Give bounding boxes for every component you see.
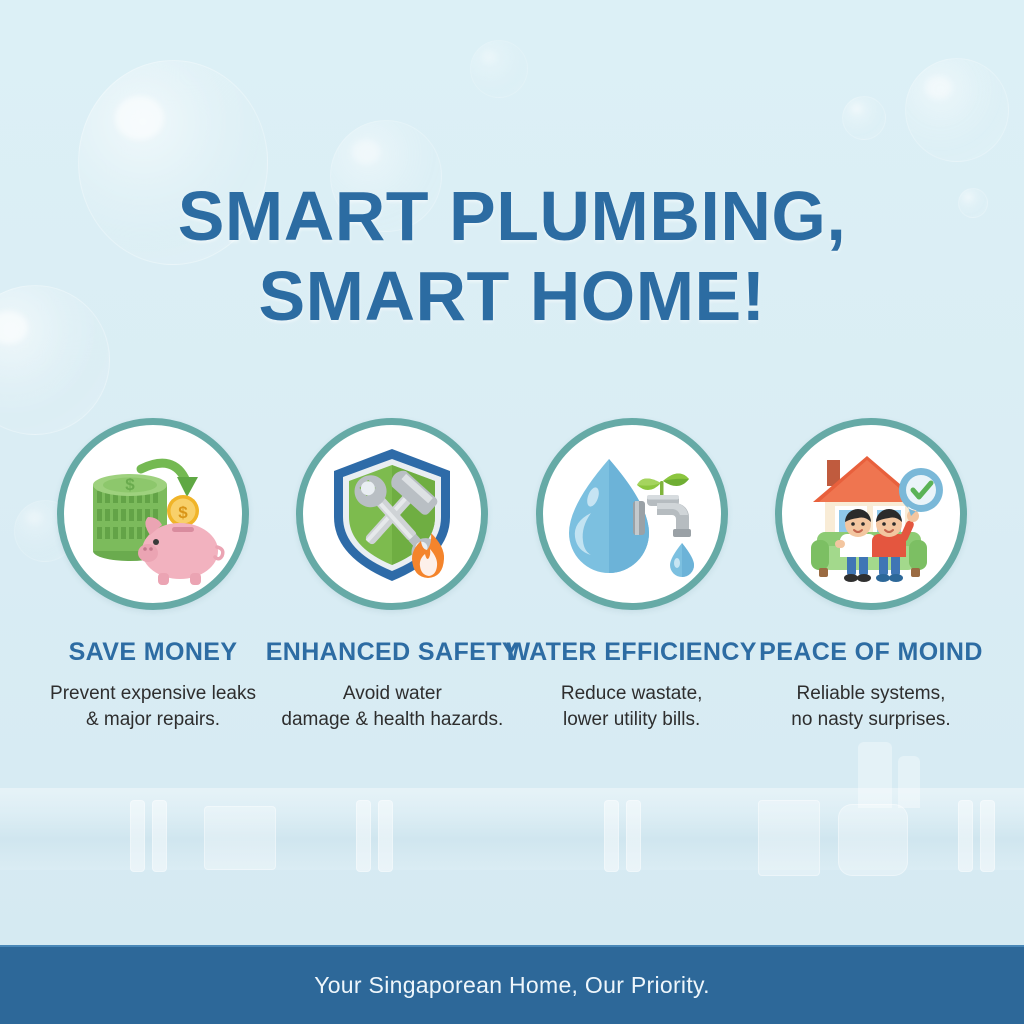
water-drop-faucet-leaf-icon <box>536 418 728 610</box>
feature-title: PEACE OF MOIND <box>759 638 983 667</box>
pipe-ring-icon <box>980 800 995 872</box>
feature-description: Prevent expensive leaks & major repairs. <box>50 681 256 733</box>
feature-item-water-efficiency: WATER EFFICIENCY Reduce wastate, lower u… <box>513 418 751 733</box>
feature-desc-line-1: Reduce wastate, <box>561 683 703 704</box>
pipe-ring-icon <box>152 800 167 872</box>
footer-banner: Your Singaporean Home, Our Priority. <box>0 945 1024 1024</box>
svg-text:$: $ <box>125 475 135 494</box>
feature-desc-line-2: no nasty surprises. <box>791 709 950 730</box>
family-home-check-icon <box>775 418 967 610</box>
page-title: SMART PLUMBING, SMART HOME! <box>0 176 1024 336</box>
feature-description: Reliable systems, no nasty surprises. <box>791 681 950 733</box>
pipe-ring-icon <box>130 800 145 872</box>
pipe-ring-icon <box>356 800 371 872</box>
pipe-fitting-icon <box>758 800 820 876</box>
headline-line-1: SMART PLUMBING, <box>178 177 847 255</box>
pipe-fitting-icon <box>204 806 276 870</box>
feature-description: Reduce wastate, lower utility bills. <box>561 681 703 733</box>
piggy-bank-coins-icon: $ $ <box>57 418 249 610</box>
pipe-ring-icon <box>626 800 641 872</box>
feature-desc-line-1: Reliable systems, <box>797 683 946 704</box>
pipe-stub-icon <box>898 756 920 808</box>
pipe-watermark <box>0 788 1024 870</box>
feature-item-enhanced-safety: ENHANCED SAFETY Avoid water damage & hea… <box>273 418 511 733</box>
feature-item-peace-of-mind: PEACE OF MOIND Reliable systems, no nast… <box>752 418 990 733</box>
pipe-ring-icon <box>378 800 393 872</box>
footer-tagline: Your Singaporean Home, Our Priority. <box>314 972 710 999</box>
pipe-fitting-icon <box>838 804 908 876</box>
bubble-icon <box>470 40 528 98</box>
feature-desc-line-2: damage & health hazards. <box>281 709 503 730</box>
feature-desc-line-2: lower utility bills. <box>563 709 700 730</box>
feature-title: WATER EFFICIENCY <box>506 638 756 667</box>
bubble-icon <box>842 96 886 140</box>
feature-desc-line-1: Prevent expensive leaks <box>50 683 256 704</box>
svg-text:$: $ <box>178 503 188 522</box>
feature-description: Avoid water damage & health hazards. <box>281 681 503 733</box>
feature-item-save-money: $ $ <box>34 418 272 733</box>
headline-line-2: SMART HOME! <box>0 256 1024 336</box>
pipe-ring-icon <box>604 800 619 872</box>
feature-desc-line-2: & major repairs. <box>86 709 220 730</box>
feature-desc-line-1: Avoid water <box>343 683 442 704</box>
bubble-icon <box>905 58 1009 162</box>
pipe-stub-icon <box>858 742 892 808</box>
feature-title: ENHANCED SAFETY <box>266 638 519 667</box>
poster-canvas: SMART PLUMBING, SMART HOME! <box>0 0 1024 1024</box>
feature-title: SAVE MONEY <box>69 638 238 667</box>
pipe-ring-icon <box>958 800 973 872</box>
shield-tools-flame-icon <box>296 418 488 610</box>
feature-list: $ $ <box>34 418 990 733</box>
